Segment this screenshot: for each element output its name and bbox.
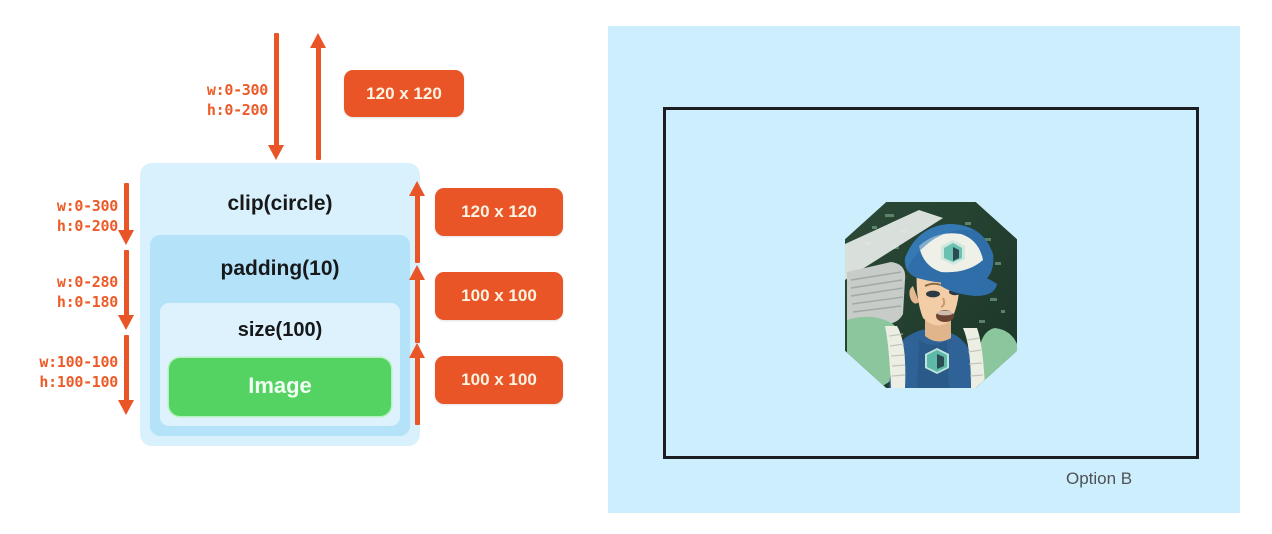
constraint-width: w:100-100 [10, 352, 118, 372]
constraint-arrow-down-1 [122, 183, 131, 245]
clipped-character-avatar [845, 202, 1017, 388]
size-badge-3: 100 x 100 [435, 356, 563, 404]
constraint-label-2: w:0-280 h:0-180 [18, 272, 118, 312]
constraint-height: h:100-100 [10, 372, 118, 392]
preview-caption: Option B [1066, 469, 1132, 489]
size-badge-top: 120 x 120 [344, 70, 464, 117]
constraint-arrow-down-2 [122, 250, 131, 330]
box-padding: padding(10) size(100) Image [150, 235, 410, 436]
constraint-height: h:0-180 [18, 292, 118, 312]
constraint-label-3: w:100-100 h:100-100 [10, 352, 118, 392]
diagram-canvas: w:0-300 h:0-200 120 x 120 clip(circle) p… [0, 0, 1272, 534]
constraint-width: w:0-300 [168, 80, 268, 100]
constraint-arrow-down-3 [122, 335, 131, 415]
box-padding-label: padding(10) [150, 257, 410, 281]
constraint-label-top: w:0-300 h:0-200 [168, 80, 268, 120]
constraint-width: w:0-280 [18, 272, 118, 292]
size-arrow-up-1 [413, 181, 422, 263]
size-badge-1: 120 x 120 [435, 188, 563, 236]
size-arrow-up-2 [413, 265, 422, 343]
constraint-height: h:0-200 [168, 100, 268, 120]
size-badge-2: 100 x 100 [435, 272, 563, 320]
constraint-arrow-down-top [272, 33, 281, 160]
box-size: size(100) Image [160, 303, 400, 426]
constraint-label-1: w:0-300 h:0-200 [18, 196, 118, 236]
constraint-width: w:0-300 [18, 196, 118, 216]
box-image-label: Image [169, 373, 391, 399]
size-arrow-up-top [314, 33, 323, 160]
box-image: Image [169, 358, 391, 416]
size-arrow-up-3 [413, 343, 422, 425]
constraint-height: h:0-200 [18, 216, 118, 236]
preview-panel: Option B [608, 26, 1240, 513]
box-clip-circle-label: clip(circle) [140, 192, 420, 216]
box-clip-circle: clip(circle) padding(10) size(100) Image [140, 163, 420, 446]
box-size-label: size(100) [160, 319, 400, 342]
